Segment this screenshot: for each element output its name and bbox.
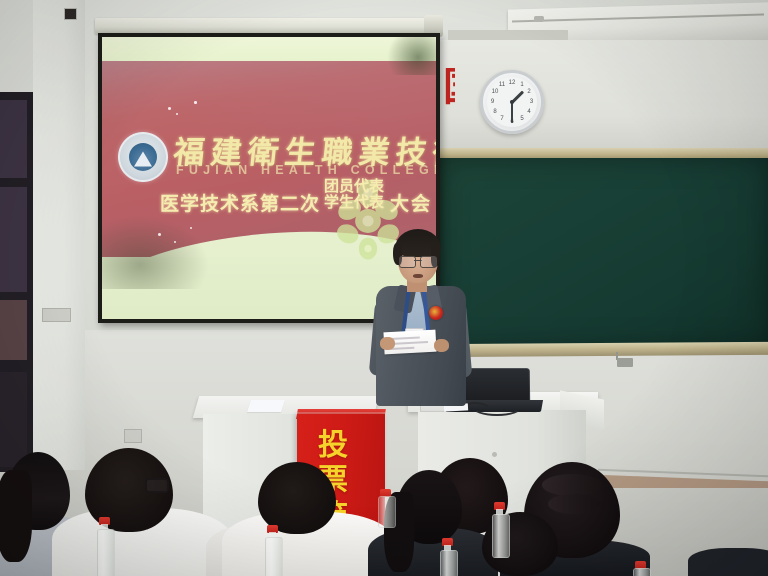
audience-hair (0, 470, 32, 562)
slide-sparkle (176, 113, 178, 115)
water-bottle (633, 568, 651, 576)
lectern-paper (247, 400, 285, 412)
glasses-lens-left (399, 256, 416, 268)
wall-clock: 12 1 2 3 4 5 6 7 8 9 10 11 (480, 70, 544, 134)
slide-sparkle (168, 107, 171, 110)
audience-torso (688, 548, 768, 576)
audience-glasses-icon (145, 478, 169, 493)
door-pane (0, 300, 27, 360)
door-pane (0, 187, 27, 292)
clock-numeral: 5 (520, 116, 523, 122)
blackboard-chalk-rail (440, 342, 768, 357)
seal-mountain-icon (134, 151, 152, 166)
clock-numeral: 10 (492, 89, 499, 95)
presenter-glasses-icon (399, 256, 437, 267)
slide-subtitle-line-2: 学生代表 (324, 195, 384, 211)
wall-pillar (33, 0, 85, 470)
glasses-lens-right (420, 256, 437, 268)
presenter-mouth (413, 274, 423, 278)
projector-screen-roller: ▪ Redleaf (95, 18, 440, 34)
clock-numeral: 2 (527, 89, 530, 95)
clock-numeral: 4 (527, 109, 530, 115)
presenter-right-hand (434, 339, 449, 352)
clock-numeral: 3 (530, 99, 533, 105)
ballot-char-1: 投 (318, 428, 348, 463)
slide-sparkle (190, 227, 192, 229)
audience-braid (542, 474, 602, 496)
wall-outlet (42, 308, 71, 322)
clock-numeral: 9 (491, 99, 494, 105)
audience-head (258, 462, 336, 534)
paper-text-line (390, 336, 420, 339)
slide-sparkle (194, 101, 197, 104)
clock-numeral: 12 (509, 80, 516, 86)
laptop-cable (472, 398, 522, 416)
light-rail-bracket (534, 16, 544, 22)
slide-subtitle-tail: 大会 (390, 189, 432, 216)
door-pane (0, 100, 27, 178)
clock-numeral: 11 (499, 82, 505, 88)
slide-corner-foliage (376, 37, 436, 75)
presentation-slide: 福建衛生職業技術學院 FUJIAN HEALTH COLLEGE 医学技术系第二… (102, 37, 436, 319)
slide-sparkle (174, 241, 176, 243)
slide-subtitle-stack: 团员代表 学生代表 (324, 179, 384, 211)
clock-numeral: 8 (493, 109, 496, 115)
slide-tree-silhouette (102, 209, 218, 289)
projector-screen: 福建衛生職業技術學院 FUJIAN HEALTH COLLEGE 医学技术系第二… (98, 33, 440, 323)
water-bottle (492, 514, 510, 558)
classroom-photo: 未来属于 国 12 1 2 3 4 5 6 7 8 9 10 11 ▪ Redl… (0, 0, 768, 576)
banner-partial-char: 国 (443, 68, 455, 106)
clock-numeral: 7 (500, 116, 503, 122)
presenter-left-hand (380, 337, 395, 350)
water-bottle (265, 537, 283, 576)
presenter-red-pin-icon (429, 306, 443, 320)
slide-sparkle (158, 233, 161, 236)
slide-subtitle-main: 医学技术系第二次 (160, 189, 320, 216)
board-hook (617, 358, 633, 367)
ceiling-sensor-icon (64, 8, 77, 20)
paper-text-line (390, 341, 428, 344)
slide-subtitle-line-1: 团员代表 (324, 179, 384, 195)
door-pane (0, 372, 27, 467)
blackboard-top-rail (440, 148, 768, 158)
college-seal-logo (118, 132, 168, 182)
water-bottle (97, 529, 115, 576)
green-blackboard (440, 158, 768, 348)
water-bottle (378, 496, 396, 528)
clock-face: 12 1 2 3 4 5 6 7 8 9 10 11 (487, 77, 537, 127)
audience-braid (548, 494, 600, 514)
slide-school-name-en: FUJIAN HEALTH COLLEGE (176, 163, 436, 177)
clock-minute-hand (511, 102, 513, 123)
clock-center-pin (510, 100, 514, 104)
clock-numeral: 1 (520, 82, 523, 88)
water-bottle (440, 550, 458, 576)
desk-screw (492, 452, 497, 457)
lower-wall-outlet (124, 429, 142, 443)
